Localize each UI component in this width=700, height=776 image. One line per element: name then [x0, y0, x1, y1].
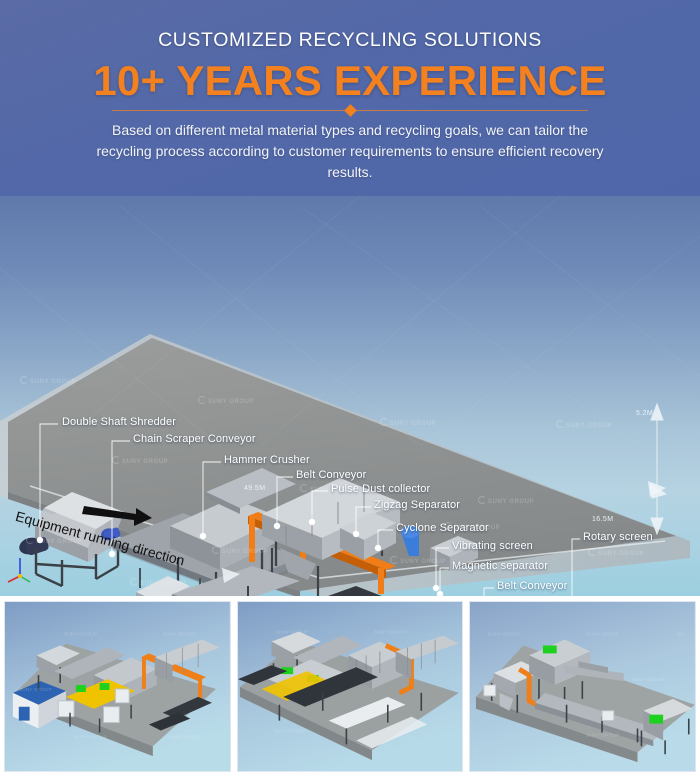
svg-text:SUNY GROUP: SUNY GROUP	[273, 728, 307, 734]
watermark-text: SUNY GROUP	[30, 379, 76, 385]
axis-gizmo	[8, 558, 30, 582]
watermark-text: SUNY GROUP	[488, 499, 534, 505]
header-banner: CUSTOMIZED RECYCLING SOLUTIONS 10+ YEARS…	[0, 0, 700, 196]
label-double-shaft-shredder: Double Shaft Shredder	[62, 416, 176, 428]
svg-text:SUNY GROUP: SUNY GROUP	[587, 632, 621, 638]
watermark: SUNY GROUP	[198, 396, 254, 405]
svg-text:SUNY GROUP: SUNY GROUP	[74, 734, 108, 740]
watermark-text: SUNY GROUP	[208, 399, 254, 405]
thumb-left-illustration: SUNY GROUPSUNY GROUP SUNY GROUPSUNY GROU…	[5, 602, 230, 771]
svg-text:SUNY GROUP: SUNY GROUP	[374, 630, 408, 636]
watermark: SUNY GROUP	[26, 536, 82, 545]
watermark-text: SUNY GROUP	[36, 539, 82, 545]
watermark: SUNY GROUP	[478, 496, 534, 505]
svg-text:SUNY GROUP: SUNY GROUP	[19, 687, 53, 693]
watermark-text: SUNY GROUP	[122, 459, 168, 465]
svg-text:SUNY GROUP: SUNY GROUP	[64, 632, 98, 638]
svg-text:SUNY GROUP: SUNY GROUP	[163, 632, 197, 638]
watermark-text: SUNY GROUP	[222, 549, 268, 555]
thumb-right-illustration: SUNY GROUPSUNY GROUP SUSUNY GROUP SUNY G…	[470, 602, 695, 771]
thumbnail-plant-overview-center[interactable]: SUNY GROUPSUNY GROUP SUNY GROUP	[237, 601, 464, 772]
watermark: SUNY GROUP	[20, 376, 76, 385]
watermark-text: SUNY GROUP	[566, 423, 612, 429]
header-kicker: CUSTOMIZED RECYCLING SOLUTIONS	[0, 29, 700, 52]
svg-text:SU: SU	[677, 632, 684, 638]
watermark-text: SUNY GROUP	[310, 487, 356, 493]
svg-text:SUNY GROUP: SUNY GROUP	[587, 732, 621, 738]
watermark-text: SUNY GROUP	[390, 421, 436, 427]
svg-text:SUNY GROUP: SUNY GROUP	[275, 630, 309, 636]
recycling-solution-infographic: CUSTOMIZED RECYCLING SOLUTIONS 10+ YEARS…	[0, 0, 700, 776]
thumb-center-illustration: SUNY GROUPSUNY GROUP SUNY GROUP	[238, 602, 463, 771]
watermark: SUNY GROUP	[588, 548, 644, 557]
label-zigzag-separator: Zigzag Separator	[374, 499, 460, 511]
watermark-text: SUNY GROUP	[454, 525, 500, 531]
plant-layout-diagram: Double Shaft Shredder Chain Scraper Conv…	[0, 196, 700, 596]
header-divider	[112, 110, 588, 111]
page-title: 10+ YEARS EXPERIENCE	[0, 57, 700, 105]
label-rotary-screen: Rotary screen	[583, 531, 653, 543]
watermark: SUNY GROUP	[444, 522, 500, 531]
watermark-text: SUNY GROUP	[140, 581, 186, 587]
thumbnail-plant-overview-right[interactable]: SUNY GROUPSUNY GROUP SUSUNY GROUP SUNY G…	[469, 601, 696, 772]
label-hammer-crusher: Hammer Crusher	[224, 454, 310, 466]
dimension-height: 5.2M	[636, 410, 653, 417]
watermark: SUNY GROUP	[212, 546, 268, 555]
label-magnetic-separator: Magnetic separator	[452, 560, 548, 572]
watermark-text: SUNY GROUP	[598, 551, 644, 557]
svg-text:SUNY GROUP: SUNY GROUP	[488, 632, 522, 638]
watermark-text: SUNY GROUP	[400, 559, 446, 565]
watermark: SUNY GROUP	[130, 578, 186, 587]
watermark: SUNY GROUP	[300, 484, 356, 493]
watermark: SUNY GROUP	[556, 420, 612, 429]
dimension-width: 16.5M	[592, 516, 613, 523]
thumbnail-strip: SUNY GROUPSUNY GROUP SUNY GROUPSUNY GROU…	[0, 596, 700, 776]
label-belt-conveyor-1: Belt Conveyor	[296, 469, 366, 481]
watermark: SUNY GROUP	[112, 456, 168, 465]
watermark: SUNY GROUP	[390, 556, 446, 565]
svg-text:SUNY GROUP: SUNY GROUP	[632, 677, 666, 683]
label-belt-conveyor-2: Belt Conveyor	[497, 580, 567, 592]
dimension-length: 49.5M	[244, 485, 265, 492]
watermark: SUNY GROUP	[380, 418, 436, 427]
header-description: Based on different metal material types …	[88, 120, 612, 183]
svg-text:SUNY GROUP: SUNY GROUP	[169, 734, 203, 740]
label-chain-scraper-conveyor: Chain Scraper Conveyor	[133, 433, 256, 445]
thumbnail-plant-overview-left[interactable]: SUNY GROUPSUNY GROUP SUNY GROUPSUNY GROU…	[4, 601, 231, 772]
label-vibrating-screen: Vibrating screen	[452, 540, 533, 552]
